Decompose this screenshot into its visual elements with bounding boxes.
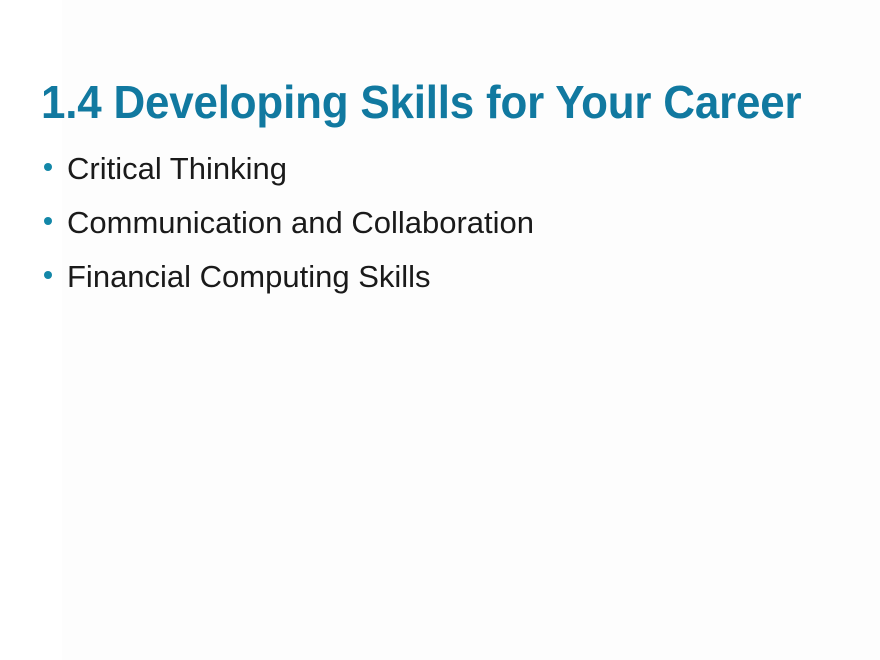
bullet-item-label: Communication and Collaboration <box>67 204 841 242</box>
bullet-dot-icon <box>44 163 52 171</box>
bullet-dot-icon <box>44 217 52 225</box>
bullet-item-label: Financial Computing Skills <box>67 258 841 296</box>
bullet-item-label: Critical Thinking <box>67 150 841 188</box>
list-item: Critical Thinking <box>41 150 841 204</box>
list-item: Communication and Collaboration <box>41 204 841 258</box>
list-item: Financial Computing Skills <box>41 258 841 312</box>
slide-canvas: 1.4 Developing Skills for Your Career Cr… <box>0 0 880 660</box>
bullet-dot-icon <box>44 271 52 279</box>
bullet-list: Critical Thinking Communication and Coll… <box>41 150 841 312</box>
page-title: 1.4 Developing Skills for Your Career <box>41 76 805 128</box>
